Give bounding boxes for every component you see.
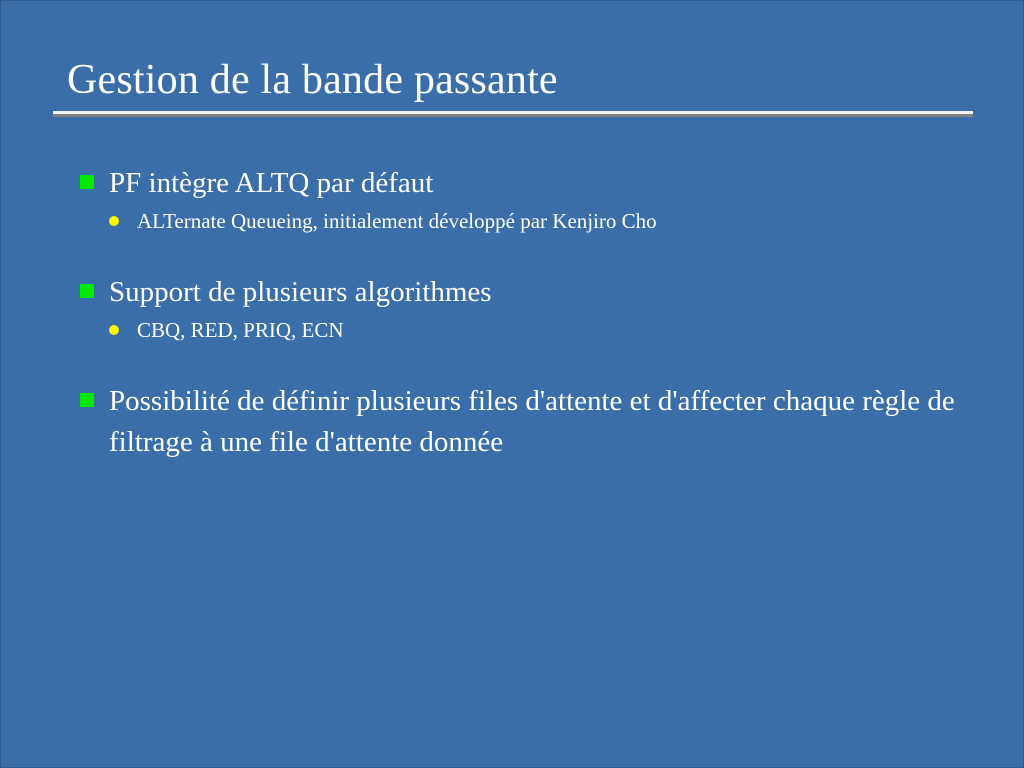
bullet-group: Support de plusieurs algorithmes CBQ, RE… [79,272,959,345]
bullet-level2: CBQ, RED, PRIQ, ECN [79,315,959,345]
bullet-group: Possibilité de définir plusieurs files d… [79,381,959,463]
title-block: Gestion de la bande passante [53,53,973,107]
square-bullet-icon [80,393,94,407]
dot-bullet-icon [109,325,119,335]
bullet-level1-label: Support de plusieurs algorithmes [109,272,959,313]
bullet-level2: ALTernate Queueing, initialement dévelop… [79,206,959,236]
page-title: Gestion de la bande passante [53,53,973,107]
bullet-level1: Support de plusieurs algorithmes [79,272,959,313]
bullet-level1: PF intègre ALTQ par défaut [79,163,959,204]
bullet-level1: Possibilité de définir plusieurs files d… [79,381,959,463]
dot-bullet-icon [109,216,119,226]
bullet-level2-label: CBQ, RED, PRIQ, ECN [137,315,959,345]
title-divider-shadow [53,114,973,117]
bullet-level1-label: PF intègre ALTQ par défaut [109,163,959,204]
slide-body: PF intègre ALTQ par défaut ALTernate Que… [79,163,959,463]
square-bullet-icon [80,175,94,189]
bullet-level2-label: ALTernate Queueing, initialement dévelop… [137,206,959,236]
square-bullet-icon [80,284,94,298]
bullet-level1-label: Possibilité de définir plusieurs files d… [109,381,959,463]
presentation-slide: Gestion de la bande passante PF intègre … [0,0,1024,768]
title-divider [53,111,973,117]
bullet-group: PF intègre ALTQ par défaut ALTernate Que… [79,163,959,236]
